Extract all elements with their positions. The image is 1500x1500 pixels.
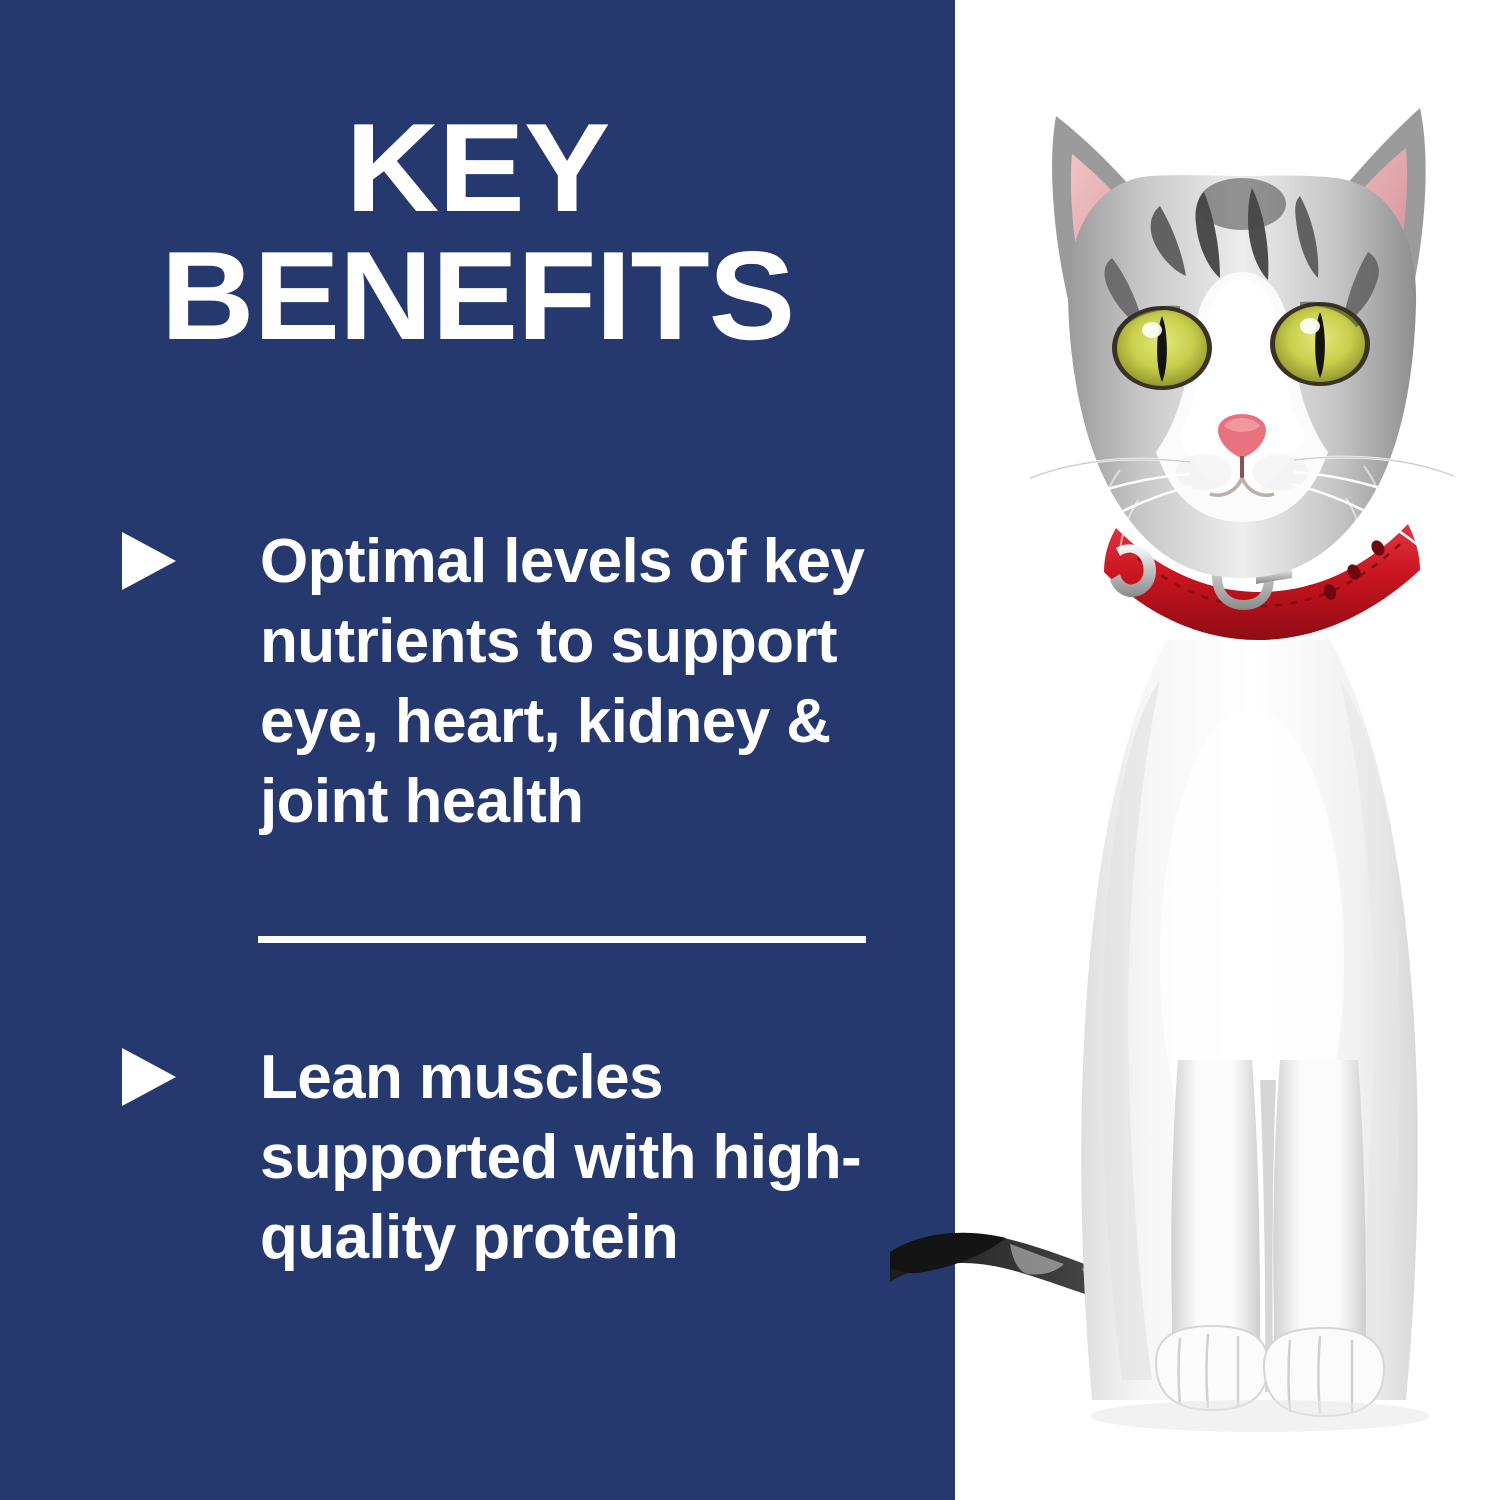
cat-body bbox=[1081, 640, 1418, 1400]
cat-eye-left bbox=[1112, 306, 1212, 390]
cat-head bbox=[1030, 108, 1454, 578]
cat-whiskers bbox=[1030, 457, 1454, 552]
cat-paws bbox=[1156, 1326, 1384, 1416]
benefit-item-2-label: Lean muscles supported with high-quality… bbox=[260, 1038, 910, 1278]
page-title-line-2: BENEFITS bbox=[0, 232, 969, 360]
section-divider bbox=[258, 936, 866, 943]
triangle-right-icon bbox=[120, 530, 178, 592]
benefit-item-2: Lean muscles supported with high-quality… bbox=[120, 1038, 910, 1278]
benefit-item-1-label: Optimal levels of key nutrients to suppo… bbox=[260, 522, 910, 842]
cat-collar bbox=[1104, 524, 1420, 640]
cat-eye-right bbox=[1270, 302, 1370, 386]
triangle-right-icon bbox=[120, 1046, 178, 1108]
benefit-item-1: Optimal levels of key nutrients to suppo… bbox=[120, 522, 910, 842]
cat-front-legs bbox=[1171, 1060, 1366, 1392]
key-benefits-panel: KEY BENEFITS Optimal levels of key nutri… bbox=[0, 0, 1500, 1500]
page-title: KEY BENEFITS bbox=[0, 104, 969, 360]
cat-nose bbox=[1218, 414, 1266, 478]
page-title-line-1: KEY bbox=[0, 104, 969, 232]
